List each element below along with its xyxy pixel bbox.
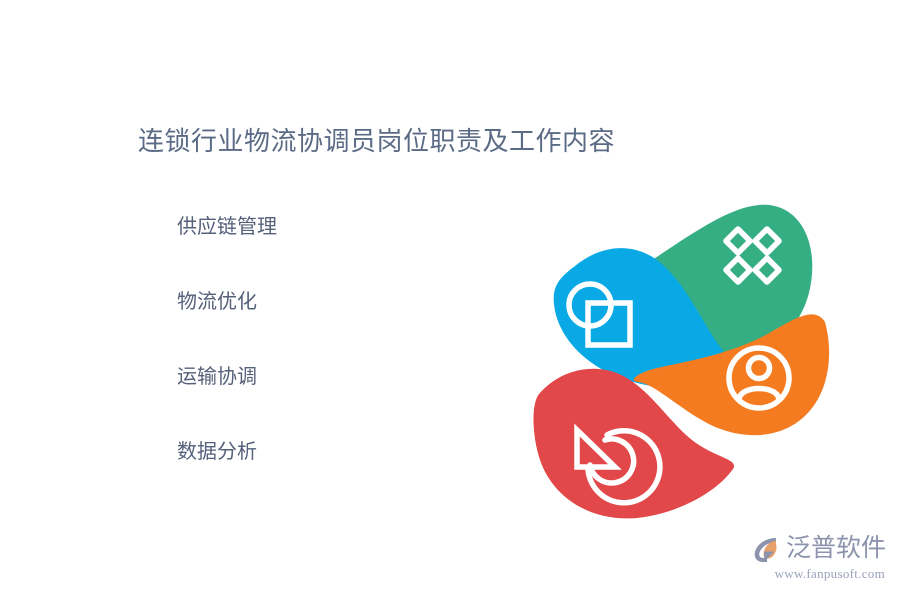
fanpu-swoosh-icon bbox=[751, 533, 783, 565]
four-petal-infographic bbox=[527, 188, 837, 528]
logo-name: 泛普软件 bbox=[786, 534, 886, 564]
logo-row: 泛普软件 bbox=[744, 532, 886, 566]
list-item: 数据分析 bbox=[177, 439, 507, 465]
logo-url: www.fanpusoft.com bbox=[744, 566, 886, 582]
brand-logo[interactable]: 泛普软件 www.fanpusoft.com bbox=[744, 532, 886, 588]
list-item: 物流优化 bbox=[177, 289, 507, 315]
list-item: 运输协调 bbox=[177, 364, 507, 390]
slide-canvas: 连锁行业物流协调员岗位职责及工作内容 供应链管理 物流优化 运输协调 数据分析 bbox=[0, 0, 900, 600]
page-title: 连锁行业物流协调员岗位职责及工作内容 bbox=[138, 125, 615, 159]
topic-list: 供应链管理 物流优化 运输协调 数据分析 bbox=[177, 214, 507, 465]
list-item: 供应链管理 bbox=[177, 214, 507, 240]
